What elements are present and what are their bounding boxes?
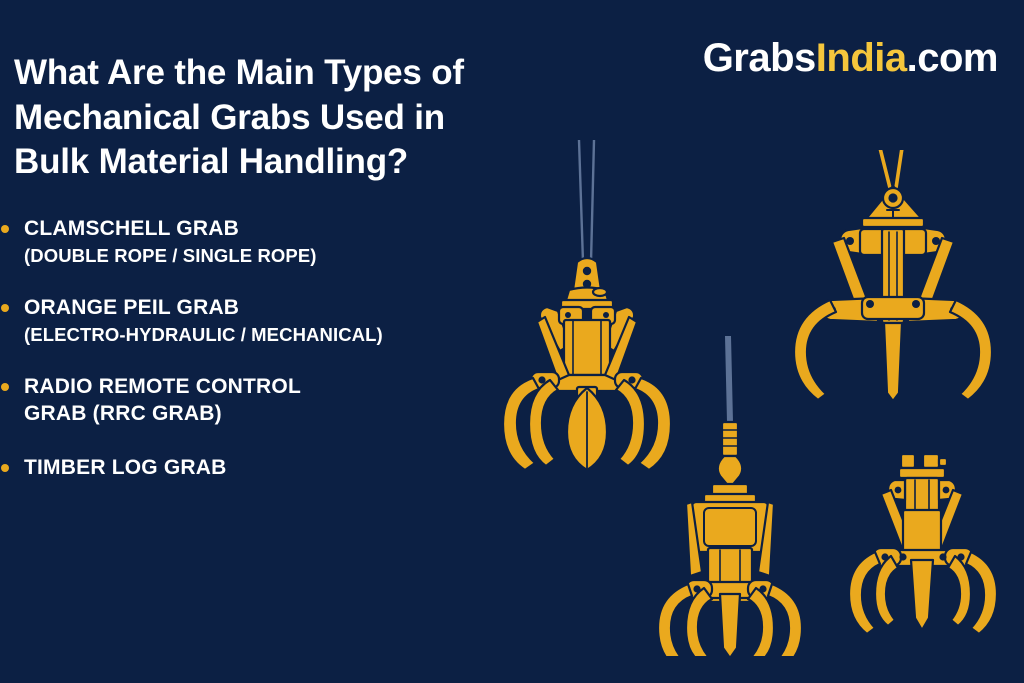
list-item: TIMBER LOG GRAB — [0, 455, 520, 482]
bullet-dot-icon — [1, 464, 9, 472]
list-item-title: CLAMSCHELL GRAB — [24, 216, 520, 243]
orange-peel-grab-large — [495, 140, 705, 470]
title-line-1: What Are the Main Types of — [14, 51, 574, 95]
clamshell-orange-peel-grab-small — [845, 432, 1017, 656]
list-item-title: ORANGE PEIL GRAB — [24, 295, 520, 322]
bullet-dot-icon — [1, 383, 9, 391]
title-line-3: Bulk Material Handling? — [14, 140, 574, 184]
logo-part-grabs: Grabs — [703, 36, 816, 80]
list-item-subtitle: (ELECTRO-HYDRAULIC / MECHANICAL) — [24, 323, 520, 347]
title-line-2: Mechanical Grabs Used in — [14, 96, 574, 140]
list-item: ORANGE PEIL GRAB (ELECTRO-HYDRAULIC / ME… — [0, 295, 520, 347]
bullet-dot-icon — [1, 225, 9, 233]
logo-part-india: India — [816, 36, 907, 80]
site-logo[interactable]: GrabsIndia.com — [703, 38, 998, 78]
list-item-subtitle: (DOUBLE ROPE / SINGLE ROPE) — [24, 244, 520, 268]
list-item: RADIO REMOTE CONTROL GRAB (RRC GRAB) — [0, 374, 520, 428]
list-item-title: RADIO REMOTE CONTROL GRAB (RRC GRAB) — [24, 374, 520, 428]
grab-types-list: CLAMSCHELL GRAB (DOUBLE ROPE / SINGLE RO… — [0, 216, 520, 508]
list-item: CLAMSCHELL GRAB (DOUBLE ROPE / SINGLE RO… — [0, 216, 520, 268]
infographic-canvas: GrabsIndia.com What Are the Main Types o… — [0, 0, 1024, 683]
logo-part-com: .com — [907, 36, 998, 80]
list-item-title: TIMBER LOG GRAB — [24, 455, 520, 482]
page-title: What Are the Main Types of Mechanical Gr… — [14, 51, 574, 183]
timber-log-grab — [790, 150, 1024, 400]
bullet-dot-icon — [1, 304, 9, 312]
radio-remote-control-grab — [650, 336, 846, 656]
